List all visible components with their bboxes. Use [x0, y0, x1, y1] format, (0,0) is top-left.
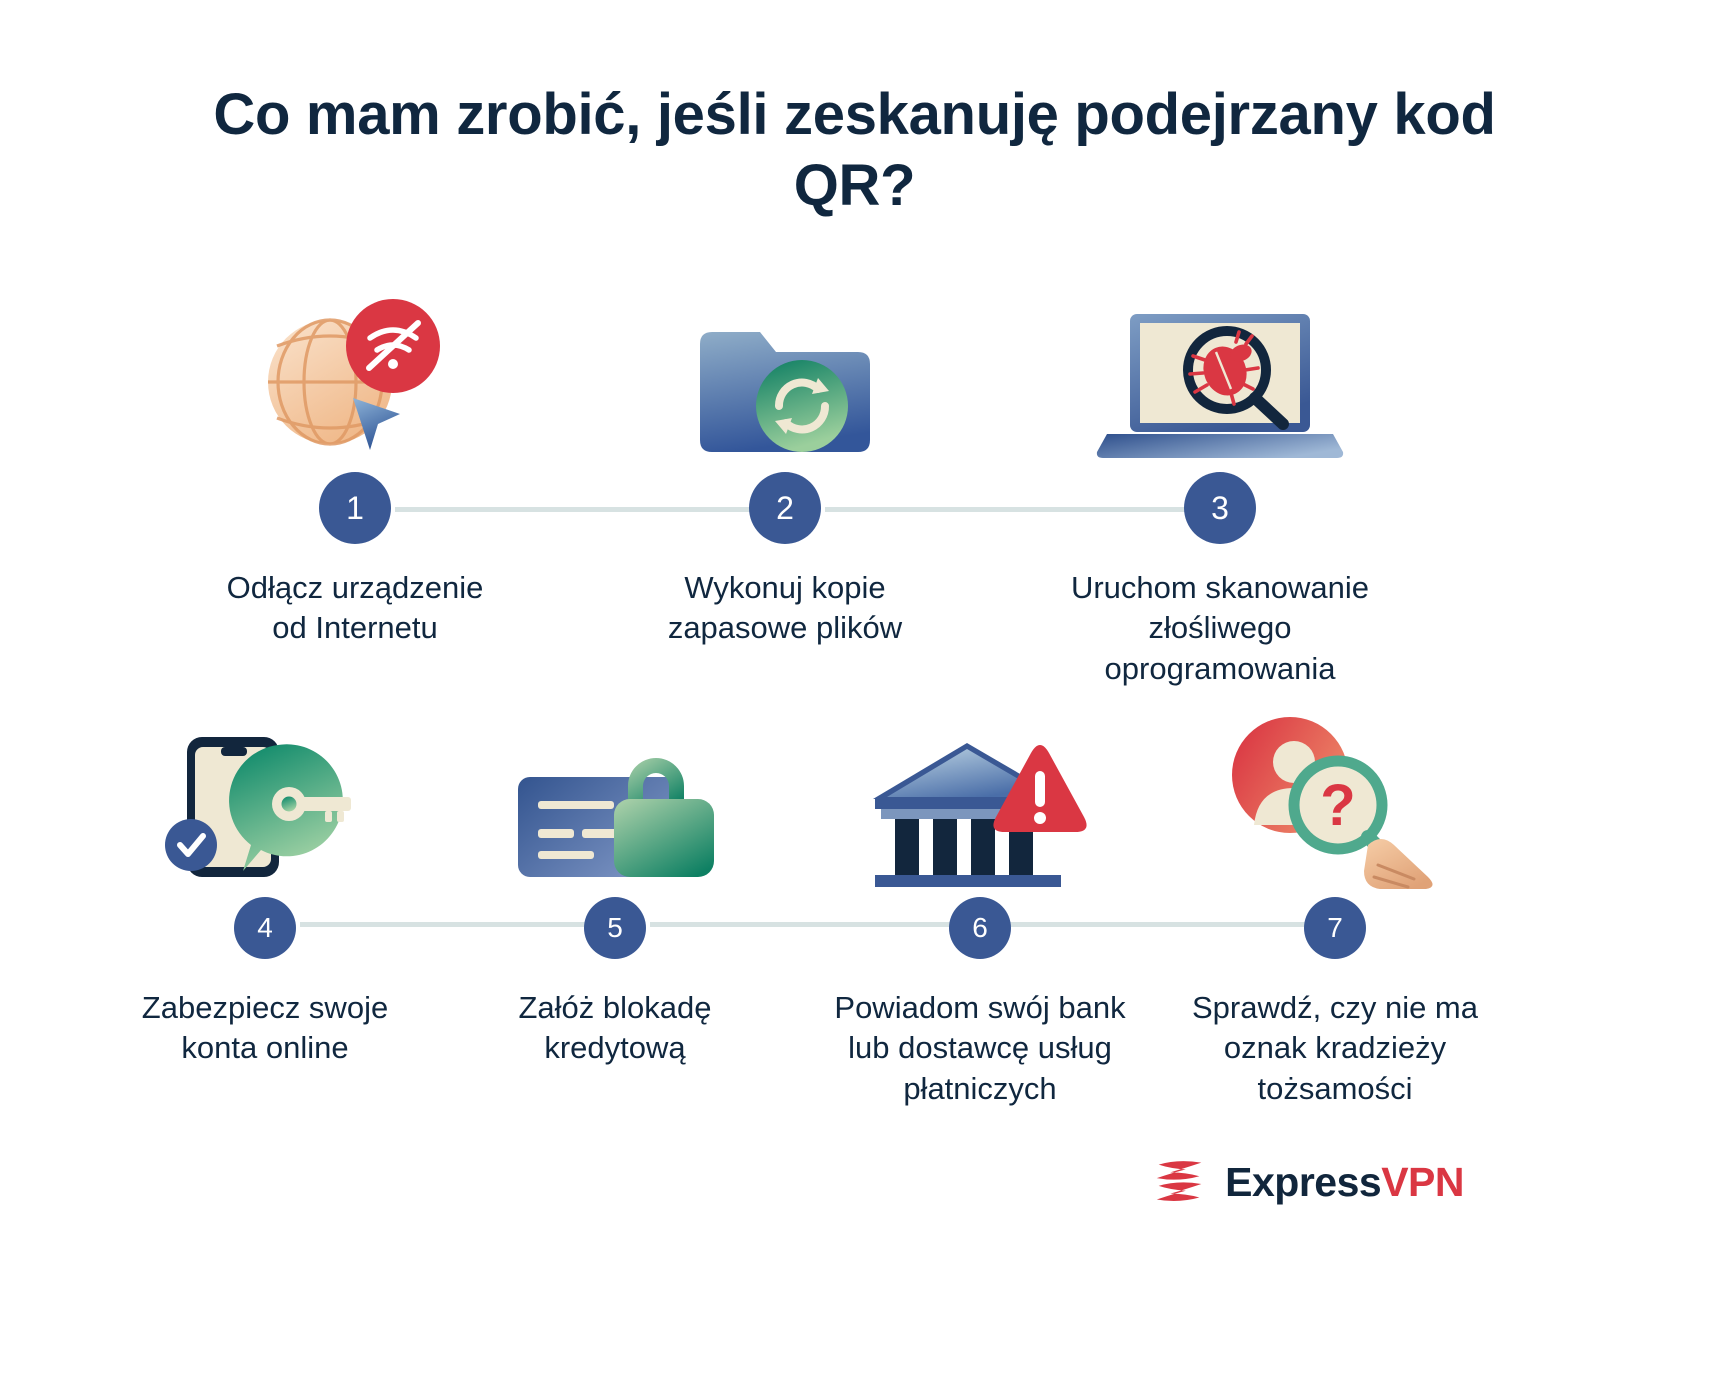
step-7-marker-row: 7 — [1160, 890, 1510, 966]
bank-warning-icon — [873, 725, 1088, 890]
step-4-icon-wrap — [110, 705, 420, 890]
step-4-number-badge[interactable]: 4 — [234, 897, 296, 959]
step-7-icon-wrap: ? — [1160, 705, 1510, 890]
step-1-icon-wrap — [180, 285, 530, 470]
step-1-label: Odłącz urządzenie od Internetu — [180, 568, 530, 649]
step-5-marker-row: 5 — [460, 890, 770, 966]
step-6[interactable]: 6 Powiadom swój bank lub dostawcę usług … — [810, 705, 1150, 1109]
connector-line-4-5 — [300, 922, 615, 927]
step-6-number-badge[interactable]: 6 — [949, 897, 1011, 959]
steps-row-two: 4 Zabezpiecz swoje konta online — [0, 705, 1709, 1135]
laptop-malware-scan-icon — [1095, 300, 1345, 470]
step-5[interactable]: 5 Załóż blokadę kredytową — [460, 705, 770, 1069]
infographic-root: Co mam zrobić, jeśli zeskanuję podejrzan… — [0, 0, 1709, 1385]
step-4-marker-row: 4 — [110, 890, 420, 966]
globe-no-wifi-cursor-icon — [250, 290, 460, 470]
step-7-label: Sprawdź, czy nie ma oznak kradzieży tożs… — [1160, 988, 1510, 1109]
svg-text:?: ? — [1320, 773, 1355, 838]
connector-line-2-3 — [825, 507, 1215, 512]
phone-key-secure-icon — [165, 725, 365, 890]
step-3-icon-wrap — [1035, 285, 1405, 470]
logo-name-primary: Express — [1225, 1159, 1381, 1205]
step-4-label: Zabezpiecz swoje konta online — [110, 988, 420, 1069]
step-6-marker-row: 6 — [810, 890, 1150, 966]
expressvpn-logo[interactable]: ExpressVPN — [1149, 1151, 1464, 1213]
step-2-number-badge[interactable]: 2 — [749, 472, 821, 544]
step-7-number-badge[interactable]: 7 — [1304, 897, 1366, 959]
folder-backup-sync-icon — [690, 310, 880, 470]
identity-theft-magnifier-icon: ? — [1218, 705, 1453, 890]
step-2-icon-wrap — [610, 285, 960, 470]
connector-line-5-6 — [650, 922, 965, 927]
step-1-number: 1 — [346, 492, 364, 524]
expressvpn-logo-mark — [1149, 1151, 1211, 1213]
step-1[interactable]: 1 Odłącz urządzenie od Internetu — [180, 285, 530, 649]
expressvpn-logo-text: ExpressVPN — [1225, 1162, 1464, 1203]
page-title: Co mam zrobić, jeśli zeskanuję podejrzan… — [0, 80, 1709, 222]
step-5-number: 5 — [607, 914, 623, 942]
steps-row-one: 1 Odłącz urządzenie od Internetu — [0, 285, 1709, 645]
step-2[interactable]: 2 Wykonuj kopie zapasowe plików — [610, 285, 960, 649]
step-4[interactable]: 4 Zabezpiecz swoje konta online — [110, 705, 420, 1069]
step-3-label: Uruchom skanowanie złośliwego oprogramow… — [1035, 568, 1405, 689]
step-4-number: 4 — [257, 914, 273, 942]
credit-card-lock-icon — [510, 725, 720, 890]
step-6-label: Powiadom swój bank lub dostawcę usług pł… — [810, 988, 1150, 1109]
connector-line-1-2 — [395, 507, 785, 512]
step-5-label: Załóż blokadę kredytową — [460, 988, 770, 1069]
step-3[interactable]: 3 Uruchom skanowanie złośliwego oprogram… — [1035, 285, 1405, 689]
step-1-number-badge[interactable]: 1 — [319, 472, 391, 544]
step-3-number-badge[interactable]: 3 — [1184, 472, 1256, 544]
logo-name-secondary: VPN — [1381, 1159, 1464, 1205]
connector-line-6-7 — [1000, 922, 1315, 927]
step-6-number: 6 — [972, 914, 988, 942]
step-2-label: Wykonuj kopie zapasowe plików — [610, 568, 960, 649]
step-6-icon-wrap — [810, 705, 1150, 890]
step-3-number: 3 — [1211, 492, 1229, 524]
step-5-icon-wrap — [460, 705, 770, 890]
step-2-number: 2 — [776, 492, 794, 524]
step-7-number: 7 — [1327, 914, 1343, 942]
step-5-number-badge[interactable]: 5 — [584, 897, 646, 959]
step-7[interactable]: ? 7 Sprawdź, czy nie ma o — [1160, 705, 1510, 1109]
